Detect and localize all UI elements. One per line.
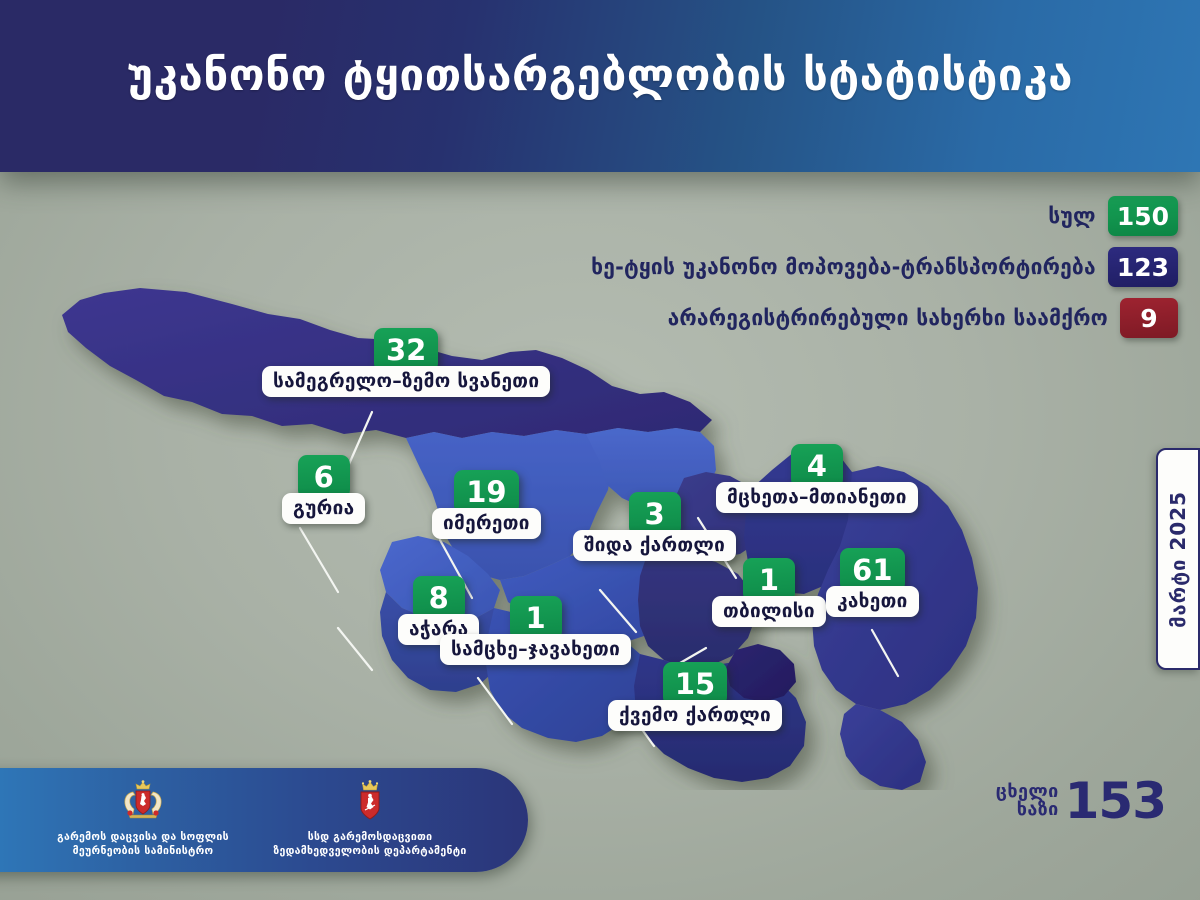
marker-label-samtskhe-javakheti: სამცხე–ჯავახეთი xyxy=(440,634,631,665)
marker-label-samegrelo-zemo-svaneti: სამეგრელო–ზემო სვანეთი xyxy=(262,366,550,397)
hotline: ცხელი ხაზი 153 xyxy=(996,778,1166,824)
hotline-word-2: ხაზი xyxy=(1017,801,1059,819)
legend-row-transport: ხე-ტყის უკანონო მოპოვება-ტრანსპორტირება … xyxy=(591,247,1178,287)
org-ministry-line1: გარემოს დაცვისა და სოფლის xyxy=(38,830,248,844)
legend-label-sawmill: არარეგისტრირებული სახერხი საამქრო xyxy=(668,306,1108,330)
marker-shida-kartli[interactable]: 3 შიდა ქართლი xyxy=(573,492,736,561)
marker-label-kvemo-kartli: ქვემო ქართლი xyxy=(608,700,782,731)
page-title: უკანონო ტყითსარგებლობის სტატისტიკა xyxy=(0,50,1200,101)
footer-bar: გარემოს დაცვისა და სოფლის მეურნეობის სამ… xyxy=(0,768,528,872)
hotline-number: 153 xyxy=(1065,778,1166,824)
marker-label-tbilisi: თბილისი xyxy=(712,596,826,627)
marker-kakheti[interactable]: 61 კახეთი xyxy=(826,548,919,617)
marker-samegrelo-zemo-svaneti[interactable]: 32 სამეგრელო–ზემო სვანეთი xyxy=(262,328,550,397)
marker-tbilisi[interactable]: 1 თბილისი xyxy=(712,558,826,627)
marker-mtskheta-mtianeti[interactable]: 4 მცხეთა–მთიანეთი xyxy=(716,444,918,513)
org-department-line1: სსდ გარემოსდაცვითი xyxy=(250,830,490,844)
marker-samtskhe-javakheti[interactable]: 1 სამცხე–ჯავახეთი xyxy=(440,596,631,665)
georgia-coat-of-arms-icon xyxy=(38,780,248,826)
department-shield-icon xyxy=(250,780,490,826)
date-card: მარტი 2025 xyxy=(1156,448,1200,670)
marker-label-imereti: იმერეთი xyxy=(432,508,541,539)
hotline-words: ცხელი ხაზი xyxy=(996,783,1059,820)
legend-label-total: სულ xyxy=(1048,204,1096,228)
org-department-line2: ზედამხედველობის დეპარტამენტი xyxy=(250,844,490,858)
org-ministry-line2: მეურნეობის სამინისტრო xyxy=(38,844,248,858)
marker-label-mtskheta-mtianeti: მცხეთა–მთიანეთი xyxy=(716,482,918,513)
legend-value-sawmill: 9 xyxy=(1120,298,1178,338)
map-region-kakheti-tail xyxy=(840,704,926,790)
marker-label-kakheti: კახეთი xyxy=(826,586,919,617)
marker-imereti[interactable]: 19 იმერეთი xyxy=(432,470,541,539)
legend-value-total: 150 xyxy=(1108,196,1178,236)
legend: სულ 150 ხე-ტყის უკანონო მოპოვება-ტრანსპო… xyxy=(591,196,1178,338)
marker-label-guria: გურია xyxy=(282,493,365,524)
leader-guria xyxy=(300,528,338,592)
legend-label-transport: ხე-ტყის უკანონო მოპოვება-ტრანსპორტირება xyxy=(591,255,1096,279)
marker-guria[interactable]: 6 გურია xyxy=(282,455,365,524)
legend-row-sawmill: არარეგისტრირებული სახერხი საამქრო 9 xyxy=(668,298,1178,338)
legend-value-transport: 123 xyxy=(1108,247,1178,287)
org-ministry: გარემოს დაცვისა და სოფლის მეურნეობის სამ… xyxy=(38,780,248,859)
legend-row-total: სულ 150 xyxy=(1048,196,1178,236)
marker-kvemo-kartli[interactable]: 15 ქვემო ქართლი xyxy=(608,662,782,731)
marker-label-shida-kartli: შიდა ქართლი xyxy=(573,530,736,561)
date-label: მარტი 2025 xyxy=(1166,491,1190,628)
leader-adjara xyxy=(338,628,372,670)
infographic-canvas: უკანონო ტყითსარგებლობის სტატისტიკა სულ 1… xyxy=(0,0,1200,900)
header-banner: უკანონო ტყითსარგებლობის სტატისტიკა xyxy=(0,0,1200,172)
org-department: სსდ გარემოსდაცვითი ზედამხედველობის დეპარ… xyxy=(250,780,490,859)
